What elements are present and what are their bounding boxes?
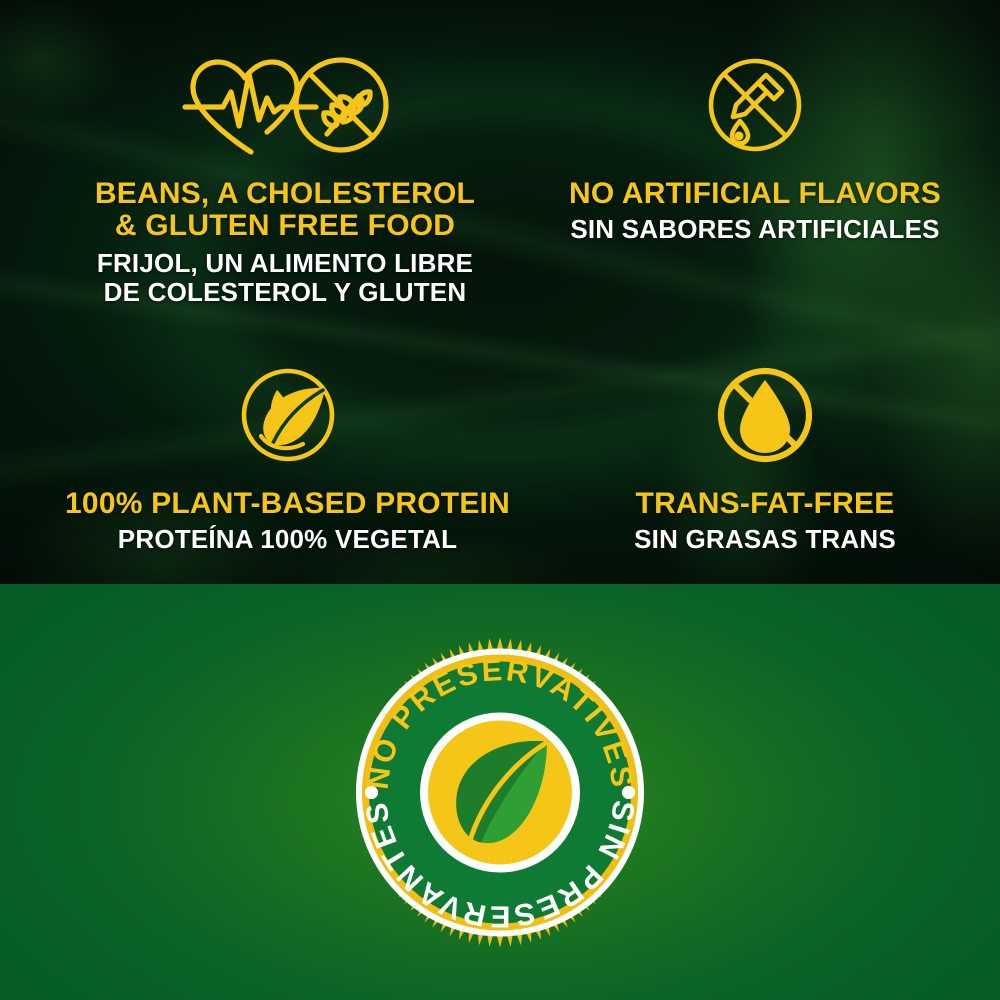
no-dropper-icon xyxy=(700,50,810,160)
feature-cholesterol-gluten-free: BEANS, A CHOLESTEROL & GLUTEN FREE FOOD … xyxy=(40,50,530,307)
no-preservatives-badge: NO PRESERVATIVES SIN PRESERVANTES xyxy=(341,634,659,957)
feature-title: BEANS, A CHOLESTEROL & GLUTEN FREE FOOD xyxy=(40,178,530,243)
heart-pulse-no-gluten-icon xyxy=(177,50,393,162)
no-preservatives-section: NO PRESERVATIVES SIN PRESERVANTES xyxy=(0,584,1000,1000)
feature-grid: BEANS, A CHOLESTEROL & GLUTEN FREE FOOD … xyxy=(0,0,1000,584)
leaf-circle-icon xyxy=(233,360,343,470)
no-oil-drop-icon xyxy=(710,360,820,470)
feature-title: TRANS-FAT-FREE xyxy=(545,488,985,520)
feature-plant-based-protein: 100% PLANT-BASED PROTEIN PROTEÍNA 100% V… xyxy=(40,360,535,555)
feature-subtitle: SIN SABORES ARTIFICIALES xyxy=(520,215,990,244)
feature-subtitle: FRIJOL, UN ALIMENTO LIBRE DE COLESTEROL … xyxy=(40,249,530,307)
feature-trans-fat-free: TRANS-FAT-FREE SIN GRASAS TRANS xyxy=(545,360,985,555)
feature-title: NO ARTIFICIAL FLAVORS xyxy=(520,178,990,210)
product-benefits-panel: BEANS, A CHOLESTEROL & GLUTEN FREE FOOD … xyxy=(0,0,1000,1000)
feature-subtitle: SIN GRASAS TRANS xyxy=(545,525,985,554)
badge-graphic: NO PRESERVATIVES SIN PRESERVANTES xyxy=(341,634,659,952)
feature-subtitle: PROTEÍNA 100% VEGETAL xyxy=(40,525,535,554)
feature-title: 100% PLANT-BASED PROTEIN xyxy=(40,488,535,520)
features-photo-section: BEANS, A CHOLESTEROL & GLUTEN FREE FOOD … xyxy=(0,0,1000,584)
feature-no-artificial-flavors: NO ARTIFICIAL FLAVORS SIN SABORES ARTIFI… xyxy=(520,50,990,245)
